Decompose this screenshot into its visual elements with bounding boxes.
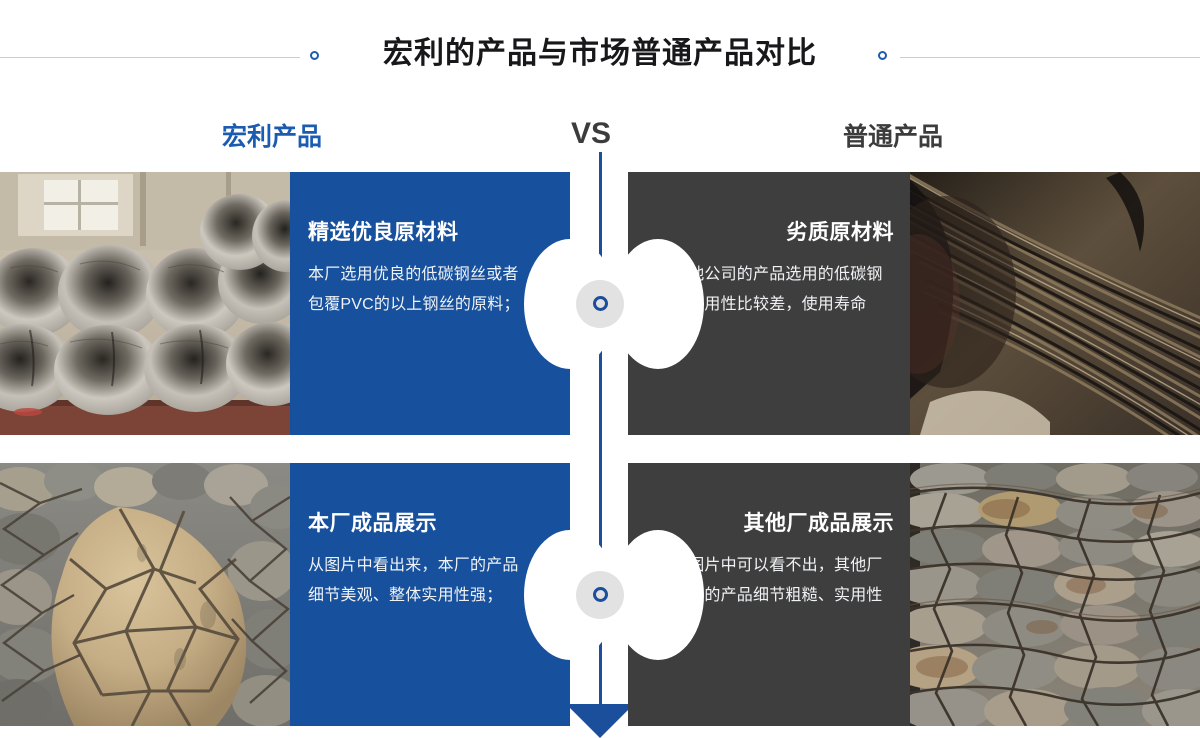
connector-lobe-right <box>612 530 704 660</box>
connector-hub <box>576 280 624 328</box>
photo-left-finished-product <box>0 463 290 726</box>
column-label-vs: VS <box>571 117 611 151</box>
header: 宏利的产品与市场普通产品对比 <box>0 0 1200 100</box>
hub-ring-icon <box>593 587 608 602</box>
panel-body: 从图片中可以看不出，其他厂生产的产品细节粗糙、实用性差； <box>672 551 894 641</box>
column-label-ordinary: 普通产品 <box>843 120 943 154</box>
photo-right-raw-material <box>910 172 1200 435</box>
photo-left-raw-material <box>0 172 290 435</box>
panel-title: 精选优良原材料 <box>308 218 570 248</box>
comparison-row: 精选优良原材料 本厂选用优良的低碳钢丝或者包覆PVC的以上钢丝的原料； 劣质原材… <box>0 172 1200 435</box>
connector-lobe-right <box>612 239 704 369</box>
photo-right-finished-product <box>910 463 1200 726</box>
panel-body: 其他公司的产品选用的低碳钢丝实用性比较差，使用寿命短； <box>672 260 894 350</box>
hub-ring-icon <box>593 296 608 311</box>
page-title: 宏利的产品与市场普通产品对比 <box>0 32 1200 76</box>
comparison-row: 本厂成品展示 从图片中看出来，本厂的产品细节美观、整体实用性强； 其他厂成品展示… <box>0 463 1200 726</box>
column-label-hongli: 宏利产品 <box>222 120 322 154</box>
panel-body: 本厂选用优良的低碳钢丝或者包覆PVC的以上钢丝的原料； <box>308 260 526 320</box>
connector-hub <box>576 571 624 619</box>
panel-title: 本厂成品展示 <box>308 509 570 539</box>
panel-body: 从图片中看出来，本厂的产品细节美观、整体实用性强； <box>308 551 526 611</box>
comparison-infographic: 宏利的产品与市场普通产品对比 宏利产品 VS 普通产品 <box>0 0 1200 738</box>
